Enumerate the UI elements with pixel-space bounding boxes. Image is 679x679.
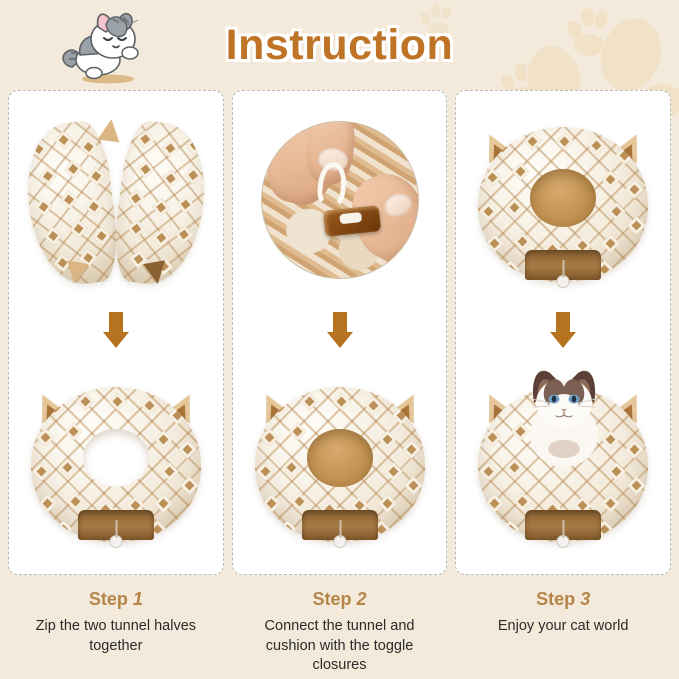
step-3-after-image (456, 357, 670, 562)
tunnel-center-opening (83, 429, 149, 487)
step-1-label-prefix: Step (89, 589, 128, 609)
step-2-label: Step 2 (232, 589, 448, 610)
step-3-description: Enjoy your cat world (455, 617, 671, 637)
steps-panel-row (0, 90, 679, 575)
step-panel-2 (232, 90, 448, 575)
step-caption-1: Step 1 Zip the two tunnel halves togethe… (8, 589, 224, 676)
step-panel-3 (455, 90, 671, 575)
step-2-label-prefix: Step (312, 589, 351, 609)
jumping-kitten-icon (58, 5, 148, 85)
step-1-label: Step 1 (8, 589, 224, 610)
step-3-before-image (456, 97, 670, 302)
step-1-number: 1 (133, 589, 143, 609)
toggle-closure-closeup-photo (261, 121, 419, 279)
toggle-closure (557, 535, 570, 548)
step-captions-row: Step 1 Zip the two tunnel halves togethe… (0, 589, 679, 676)
tunnel-opening-left (63, 260, 88, 285)
toggle-closure (333, 535, 346, 548)
toggle-closure (109, 535, 122, 548)
step-3-label-prefix: Step (536, 589, 575, 609)
plush-cushion (530, 169, 596, 227)
page-title: Instruction (226, 21, 454, 70)
tunnel-ear-tip (97, 118, 122, 143)
step-panel-1 (8, 90, 224, 575)
step-2-after-image (233, 357, 447, 562)
step-2-before-image (233, 97, 447, 302)
plush-cushion (307, 429, 373, 487)
toggle-button (322, 205, 380, 237)
step-3-number: 3 (580, 589, 590, 609)
step-1-before-image (9, 97, 223, 302)
step-caption-3: Step 3 Enjoy your cat world (455, 589, 671, 676)
page-header: Instruction (0, 0, 679, 90)
step-2-description: Connect the tunnel and cushion with the … (232, 617, 448, 676)
step-2-number: 2 (357, 589, 367, 609)
step-1-description: Zip the two tunnel halves together (8, 617, 224, 656)
tunnel-opening-right (143, 260, 168, 285)
step-1-after-image (9, 357, 223, 562)
step-3-label: Step 3 (455, 589, 671, 610)
step-caption-2: Step 2 Connect the tunnel and cushion wi… (232, 589, 448, 676)
toggle-closure (557, 275, 570, 288)
ragdoll-cat-icon (520, 357, 608, 469)
